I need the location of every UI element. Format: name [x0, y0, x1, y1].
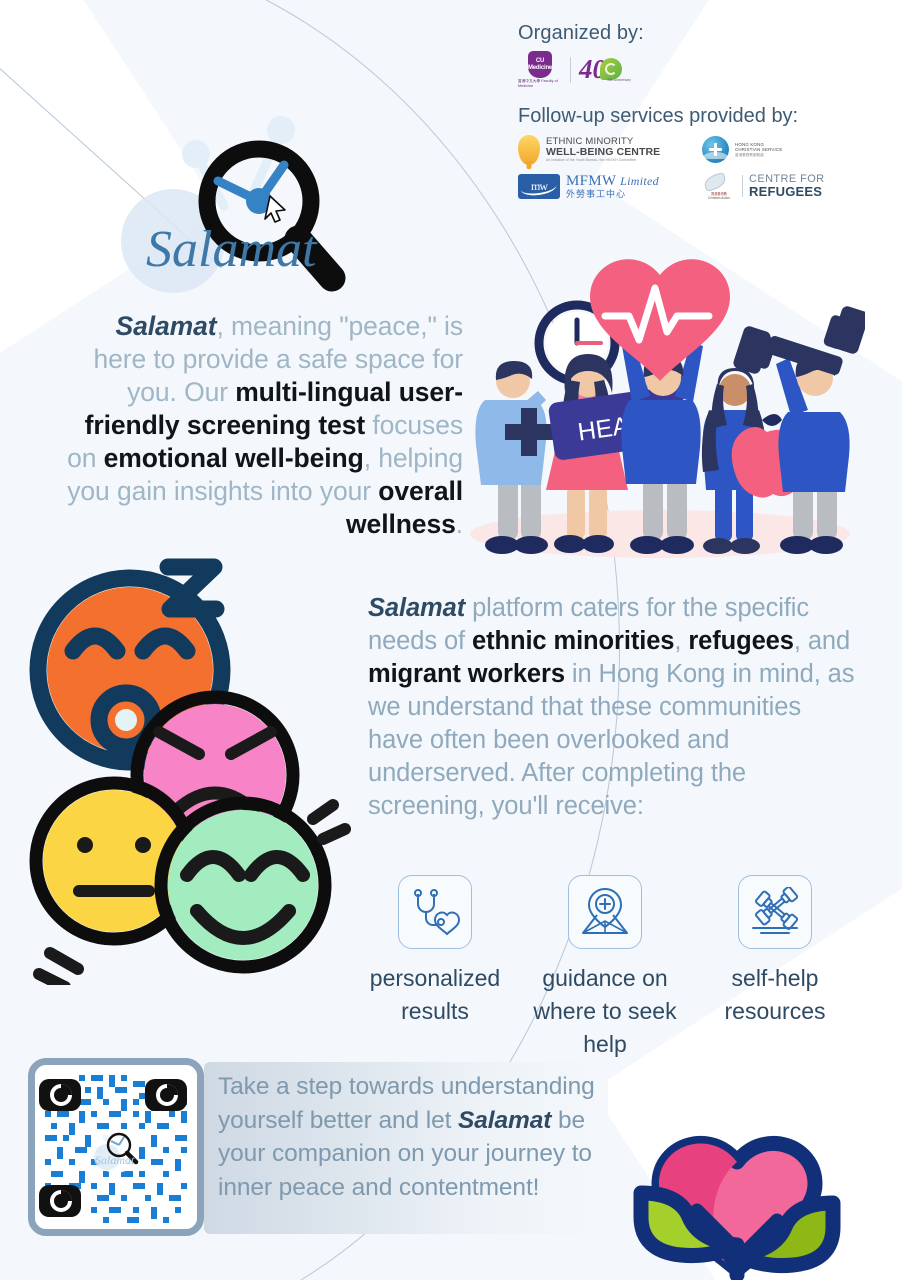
feature-guidance-where-to-seek-help[interactable]: guidance on where to seek help — [520, 875, 690, 1061]
platform-t3: , and — [794, 627, 850, 655]
intro-brand: Salamat — [116, 311, 217, 341]
intro-b2: emotional well-being — [104, 443, 364, 473]
platform-b2: refugees — [688, 627, 794, 655]
logo-divider — [570, 57, 571, 83]
partner-centre-for-refugees: 香港基督教 Christian Action CENTRE FOR REFUGE… — [702, 173, 872, 199]
anniversary-leaf-icon — [600, 58, 622, 80]
map-pin-medical-icon — [568, 875, 642, 949]
feature-self-help-resources[interactable]: self-help resources — [690, 875, 860, 1061]
stethoscope-heart-icon — [398, 875, 472, 949]
cuhk-wordmark: 香港中文大學 Faculty of Medicine — [518, 79, 562, 89]
platform-paragraph: Salamat platform caters for the specific… — [368, 592, 860, 823]
partner-hkcs: HONG KONG CHRISTIAN SERVICE 香港基督教服務處 — [702, 136, 872, 163]
cuhk-40th-anniversary-logo: 40 40th Anniversary — [579, 56, 622, 83]
platform-t2: , — [674, 627, 688, 655]
poster-canvas: Organized by: CU Medicine 香港中文大學 Faculty… — [0, 0, 902, 1280]
dumbbells-icon — [738, 875, 812, 949]
hkcs-line3: 香港基督教服務處 — [735, 153, 782, 157]
heart-flower-illustration — [625, 1050, 850, 1280]
cuhk-shield-icon: CU Medicine — [528, 51, 552, 78]
smiling-face-emoji — [161, 803, 345, 967]
cta-section: Salamat Take a step towards understandin… — [28, 1058, 608, 1238]
organizer-block: Organized by: CU Medicine 香港中文大學 Faculty… — [518, 22, 888, 200]
ca-badge-en: Christian Action — [708, 196, 730, 200]
cuhk-badge-text: CU Medicine — [528, 58, 552, 71]
platform-b3: migrant workers — [368, 660, 565, 688]
features-row: personalized results guidance on where t… — [350, 875, 860, 1061]
qr-center-wordmark: Salamat — [95, 1153, 135, 1167]
emoji-faces-illustration — [25, 555, 365, 985]
mfmw-line2: 外勞事工中心 — [566, 189, 659, 199]
wave-shape — [702, 152, 729, 159]
cuhk-faculty-of-medicine-logo: CU Medicine 香港中文大學 Faculty of Medicine — [518, 51, 562, 89]
cfr-line2: REFUGEES — [749, 185, 825, 199]
people-illustration: HEALTH — [455, 250, 865, 565]
balloon-icon — [518, 135, 540, 165]
partner-mfmw: mw MFMW Limited 外勞事工中心 — [518, 173, 698, 200]
feature-caption: personalized results — [351, 962, 519, 1028]
intro-paragraph: Salamat, meaning "peace," is here to pro… — [58, 310, 463, 541]
organized-by-label: Organized by: — [518, 22, 888, 45]
followup-label: Follow-up services provided by: — [518, 105, 888, 128]
feature-caption: self-help resources — [691, 962, 859, 1028]
mfmw-mark-icon: mw — [518, 174, 560, 199]
organizer-logos: CU Medicine 香港中文大學 Faculty of Medicine 4… — [518, 51, 888, 89]
anniversary-subtitle: 40th Anniversary — [607, 79, 631, 83]
hkcs-globe-cross-icon — [702, 136, 729, 163]
partner-logo-grid: ETHNIC MINORITY WELL-BEING CENTRE An ini… — [518, 135, 888, 200]
emwc-line2: WELL-BEING CENTRE — [546, 147, 660, 158]
feature-personalized-results[interactable]: personalized results — [350, 875, 520, 1061]
platform-b1: ethnic minorities — [472, 627, 674, 655]
christian-action-dove-icon: 香港基督教 Christian Action — [702, 173, 736, 199]
salamat-qr-code[interactable]: Salamat — [28, 1058, 204, 1236]
salamat-wordmark: Salamat — [146, 221, 318, 278]
partner-emwc: ETHNIC MINORITY WELL-BEING CENTRE An ini… — [518, 135, 698, 165]
mfmw-line1: MFMW Limited — [566, 173, 659, 190]
cta-text: Take a step towards understanding yourse… — [218, 1070, 613, 1204]
cta-brand: Salamat — [458, 1107, 551, 1134]
salamat-logo: Salamat — [118, 108, 408, 298]
platform-brand: Salamat — [368, 594, 465, 622]
emwc-line3: An initiative of the Youth Bureau, the H… — [546, 159, 660, 163]
feature-caption: guidance on where to seek help — [521, 962, 689, 1061]
